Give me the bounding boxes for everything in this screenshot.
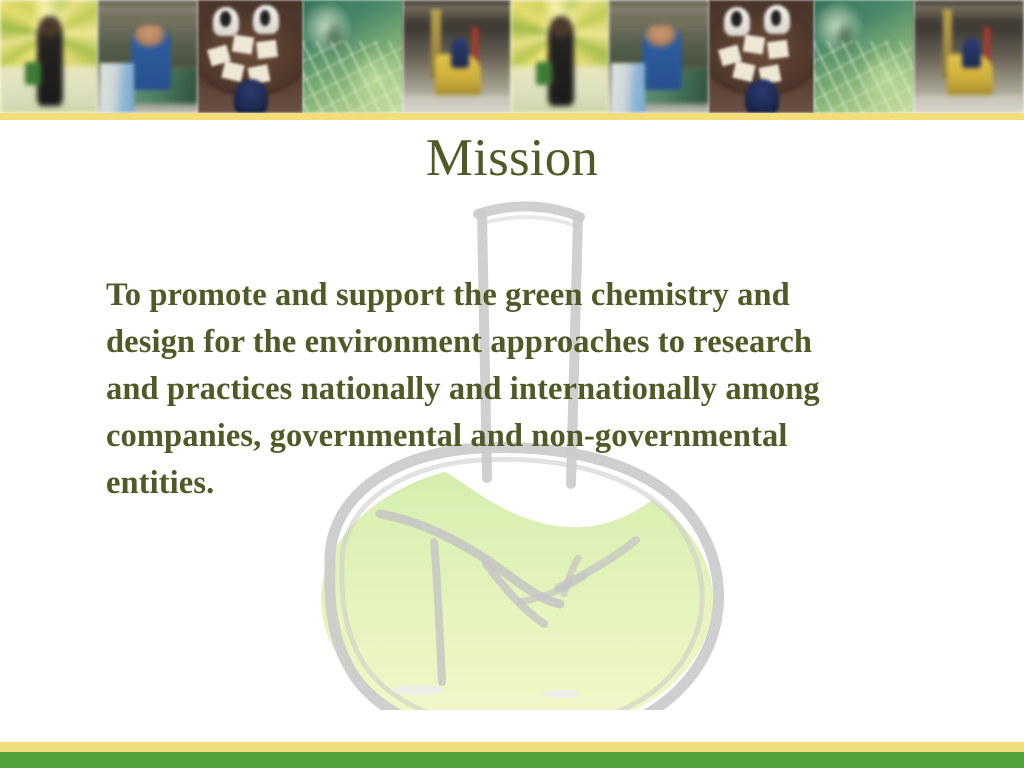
factory-worker-photo (98, 0, 198, 113)
document-sheet (767, 40, 789, 59)
team-meeting-table-photo (198, 0, 303, 113)
document-sheet (742, 35, 764, 55)
equipment-crate (611, 63, 645, 113)
seated-person (745, 79, 780, 113)
flask-leaf-veins (380, 514, 636, 682)
shopper-silhouette (548, 16, 573, 106)
supermarket-shopper-photo (0, 0, 98, 113)
worker-figure (131, 25, 171, 91)
flask-shadow-smudges (392, 685, 580, 698)
forklift-driver (451, 38, 469, 67)
team-meeting-table-photo (709, 0, 814, 113)
mission-statement-body: To promote and support the green chemist… (106, 272, 986, 507)
seated-person (234, 79, 269, 113)
body-line: entities. (106, 460, 986, 507)
person-head (220, 11, 231, 27)
shopping-basket (25, 62, 41, 85)
person-head (731, 11, 742, 27)
body-line: To promote and support the green chemist… (106, 272, 986, 319)
supermarket-shopper-photo (511, 0, 609, 113)
factory-ceiling (98, 7, 198, 18)
factory-worker-photo (609, 0, 709, 113)
circuit-pattern (303, 41, 403, 113)
green-circuit-abstract (303, 0, 403, 113)
slide-title: Mission (0, 132, 1024, 185)
document-sheet (256, 40, 278, 59)
green-circuit-abstract (814, 0, 914, 113)
banner-yellow-rule (0, 113, 1024, 120)
warehouse-floor (914, 95, 1024, 113)
warehouse-forklift-photo (403, 0, 511, 113)
presentation-slide: Mission To promote and support the green… (0, 0, 1024, 768)
factory-ceiling (609, 7, 709, 18)
body-line: companies, governmental and non-governme… (106, 413, 986, 460)
body-line: design for the environment approaches to… (106, 319, 986, 366)
equipment-crate (100, 63, 134, 113)
shopper-silhouette (37, 16, 62, 106)
photo-banner (0, 0, 1024, 113)
warehouse-beam (403, 5, 511, 20)
forklift-driver (962, 38, 981, 67)
footer-yellow-bar (0, 742, 1024, 752)
body-line: and practices nationally and internation… (106, 366, 986, 413)
warehouse-forklift-photo (914, 0, 1024, 113)
shopping-basket (536, 62, 552, 85)
document-sheet (231, 35, 253, 55)
circuit-pattern (814, 41, 914, 113)
footer-green-bar (0, 752, 1024, 768)
warehouse-floor (403, 95, 511, 113)
worker-figure (642, 25, 682, 91)
warehouse-beam (914, 5, 1024, 20)
